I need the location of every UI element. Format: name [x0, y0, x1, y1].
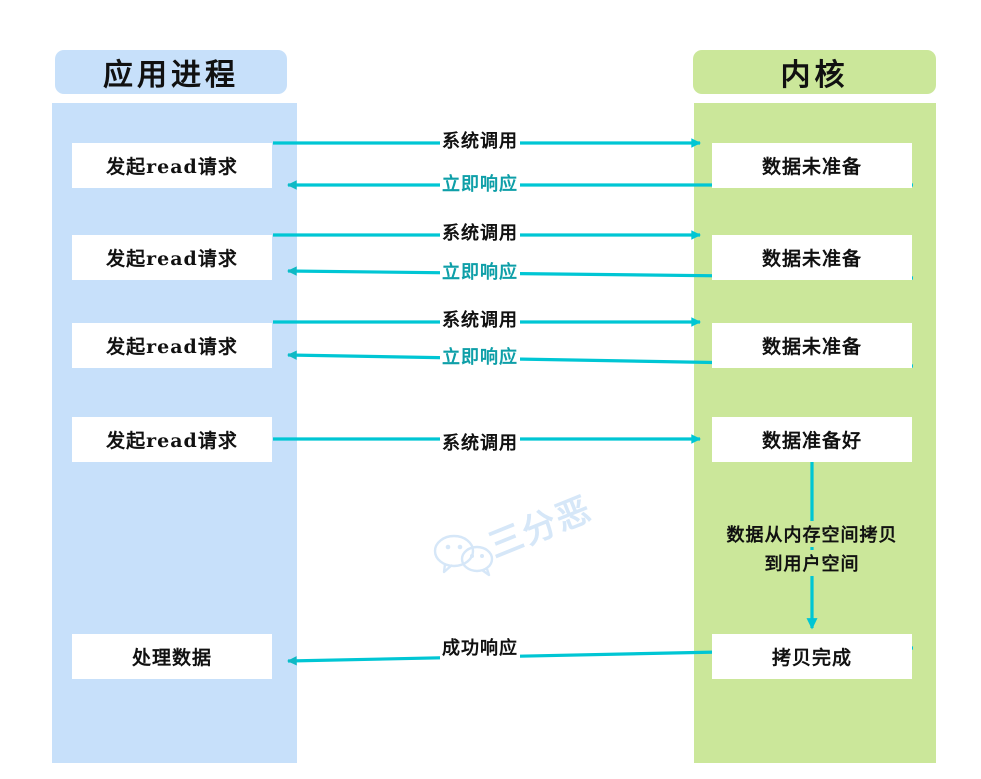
edge-label-success-response: 成功响应	[440, 634, 520, 660]
node-data-not-ready-1[interactable]: 数据未准备	[712, 143, 912, 188]
node-data-not-ready-2[interactable]: 数据未准备	[712, 235, 912, 280]
diagram-canvas: 应用进程 内核	[0, 0, 981, 779]
edge-label-immediate-1: 立即响应	[440, 170, 520, 196]
node-read-request-4[interactable]: 发起read请求	[72, 417, 272, 462]
kernel-copy-label-line2: 到用户空间	[712, 550, 912, 576]
node-read-request-1[interactable]: 发起read请求	[72, 143, 272, 188]
edge-label-syscall-1: 系统调用	[440, 127, 520, 153]
edge-label-immediate-2: 立即响应	[440, 258, 520, 284]
edge-label-syscall-3: 系统调用	[440, 306, 520, 332]
node-data-not-ready-3[interactable]: 数据未准备	[712, 323, 912, 368]
node-process-data[interactable]: 处理数据	[72, 634, 272, 679]
edge-label-syscall-4: 系统调用	[440, 429, 520, 455]
node-read-request-2[interactable]: 发起read请求	[72, 235, 272, 280]
node-data-ready[interactable]: 数据准备好	[712, 417, 912, 462]
node-copy-complete[interactable]: 拷贝完成	[712, 634, 912, 679]
node-read-request-3[interactable]: 发起read请求	[72, 323, 272, 368]
edge-label-syscall-2: 系统调用	[440, 219, 520, 245]
kernel-copy-label-line1: 数据从内存空间拷贝	[712, 521, 912, 547]
edge-label-immediate-3: 立即响应	[440, 343, 520, 369]
